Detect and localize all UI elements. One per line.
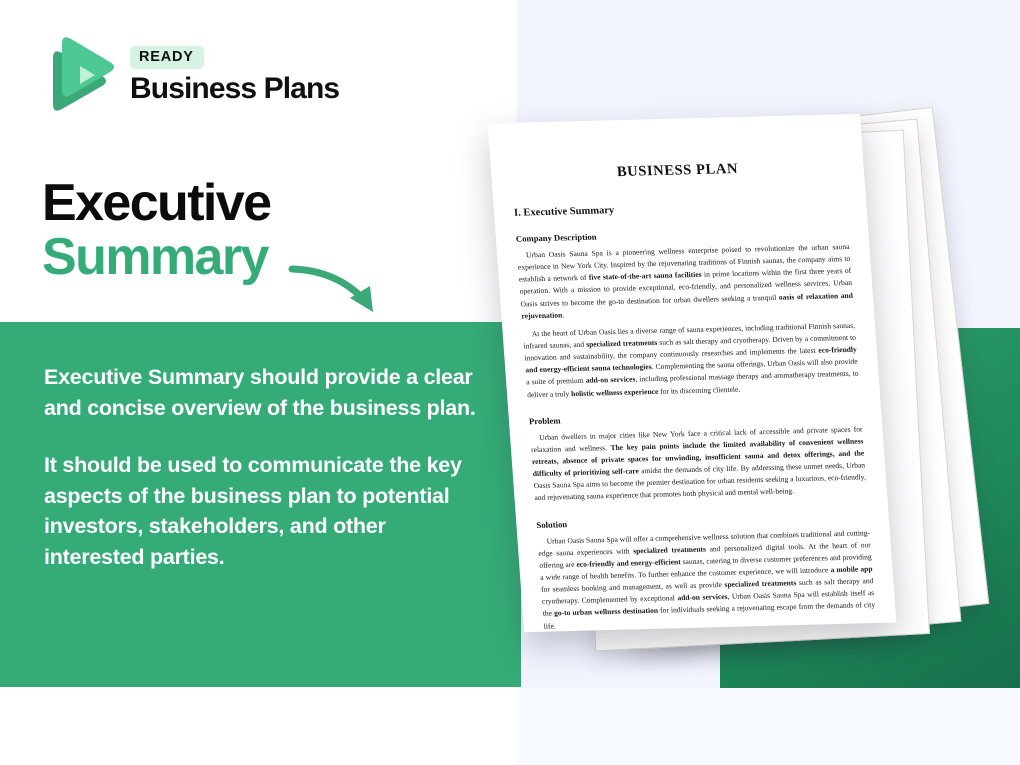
document-title: BUSINESS PLAN (511, 158, 844, 184)
panel-paragraph-1: Executive Summary should provide a clear… (44, 362, 477, 423)
page-corner-shading (716, 473, 897, 627)
slide-canvas: READY Business Plans Executive Summary E… (0, 0, 1020, 765)
headline-line-2: Summary (42, 230, 270, 284)
subsection-heading: Problem (529, 407, 862, 426)
panel-paragraph-2: It should be used to communicate the key… (44, 450, 477, 572)
subsection-heading: Company Description (516, 225, 849, 244)
headline-line-1: Executive (42, 176, 270, 230)
subsection-paragraph: Urban Oasis Sauna Spa is a pioneering we… (517, 241, 854, 322)
subsection-paragraph: At the heart of Urban Oasis lies a diver… (522, 320, 859, 401)
page-title: Executive Summary (42, 176, 270, 284)
description-panel: Executive Summary should provide a clear… (0, 322, 521, 687)
brand-name: Business Plans (130, 74, 339, 104)
document-section-heading: I. Executive Summary (514, 199, 847, 219)
document-stack: na sh by a nts nal its for BUSINESS PLAN… (470, 60, 1020, 700)
brand-logo[interactable]: READY Business Plans (40, 36, 339, 114)
play-triangle-logo-icon (40, 36, 114, 114)
document-page-front[interactable]: BUSINESS PLAN I. Executive Summary Compa… (488, 114, 897, 632)
curved-arrow-down-right-icon (286, 258, 396, 324)
ready-badge: READY (130, 46, 204, 69)
document-subsection-company-description: Company Description Urban Oasis Sauna Sp… (516, 225, 860, 401)
brand-text: READY Business Plans (130, 46, 339, 104)
